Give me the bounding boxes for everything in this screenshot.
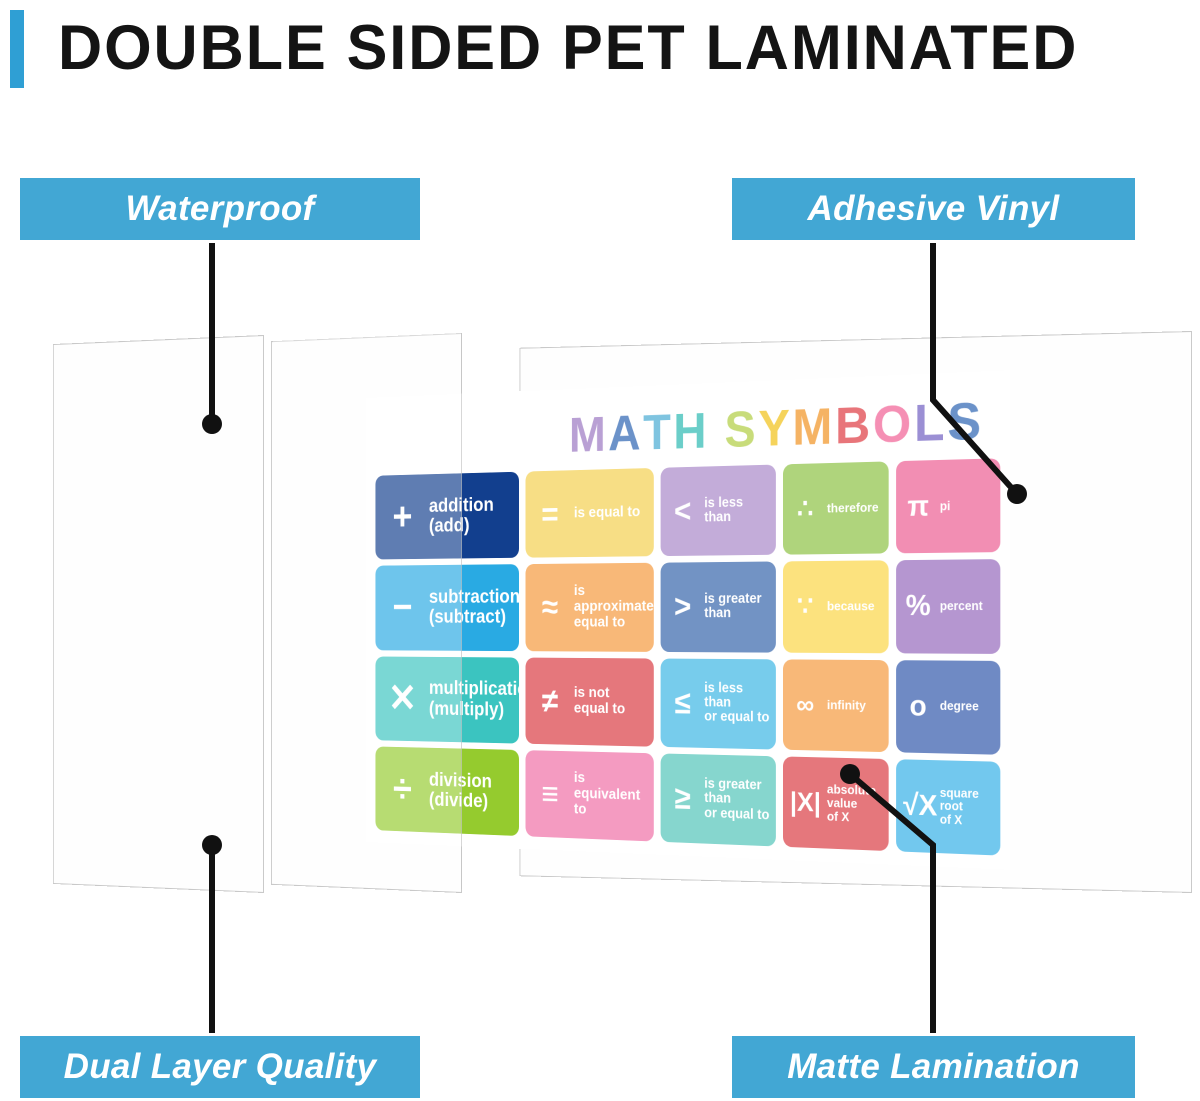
symbol-tile: ∴therefore xyxy=(783,461,888,555)
symbol-label: is approximatelyequal to xyxy=(574,583,654,631)
symbol-label: is equal to xyxy=(574,504,648,521)
symbol-glyph: ∴ xyxy=(790,495,821,523)
symbol-glyph: ≤ xyxy=(667,686,698,719)
symbol-label: multiplication(multiply) xyxy=(429,679,519,721)
symbol-glyph: o xyxy=(903,691,933,721)
poster-title-letter xyxy=(709,401,724,459)
header: DOUBLE SIDED PET LAMINATED xyxy=(0,0,1200,110)
symbol-tile: %percent xyxy=(896,559,1001,653)
poster-title-letter: O xyxy=(873,394,914,455)
symbol-tile: ≡is equivalent to xyxy=(525,750,653,842)
symbol-glyph: ≠ xyxy=(532,684,568,718)
symbol-glyph: ✕ xyxy=(382,679,424,719)
symbol-label: is less than xyxy=(704,495,770,526)
poster-title-letter: M xyxy=(792,397,835,457)
symbol-glyph: ∞ xyxy=(790,691,821,718)
callout-matte-lamination[interactable]: Matte Lamination xyxy=(732,1036,1135,1098)
symbol-tile: ✕multiplication(multiply) xyxy=(375,656,519,743)
poster-title-letter: A xyxy=(608,405,643,463)
math-symbols-poster-stage: MATH SYMBOLS +addition(add)=is equal to<… xyxy=(262,370,1010,870)
symbol-glyph: |X| xyxy=(790,788,821,816)
symbol-label: infinity xyxy=(827,698,883,712)
symbol-label: because xyxy=(827,600,883,614)
math-symbols-poster: MATH SYMBOLS +addition(add)=is equal to<… xyxy=(366,370,1010,870)
symbol-tile: ≥is greater thanor equal to xyxy=(660,753,775,846)
product-feature-infographic: DOUBLE SIDED PET LAMINATED MATH SYMBOLS … xyxy=(0,0,1200,1101)
symbol-label: pi xyxy=(940,499,995,513)
symbol-label: absolute valueof X xyxy=(827,783,883,825)
symbol-glyph: ≈ xyxy=(532,591,568,624)
symbol-glyph: > xyxy=(667,591,698,623)
poster-title-letter: H xyxy=(673,402,709,461)
math-symbols-grid: +addition(add)=is equal to<is less than∴… xyxy=(375,458,1000,855)
symbol-glyph: ≥ xyxy=(667,782,698,815)
symbol-tile: πpi xyxy=(896,458,1001,553)
symbol-glyph: π xyxy=(903,492,933,522)
symbol-label: is equivalent to xyxy=(574,771,648,821)
symbol-label: is greater thanor equal to xyxy=(704,777,770,823)
symbol-tile: odegree xyxy=(896,660,1001,755)
symbol-glyph: = xyxy=(532,497,568,531)
symbol-label: square rootof X xyxy=(940,787,995,828)
callout-waterproof[interactable]: Waterproof xyxy=(20,178,420,240)
symbol-tile: −subtraction(subtract) xyxy=(375,564,519,650)
symbol-label: division(divide) xyxy=(429,770,514,813)
poster-title: MATH SYMBOLS xyxy=(569,392,950,464)
poster-title-letter: Y xyxy=(758,399,792,459)
symbol-glyph: ÷ xyxy=(382,769,424,810)
poster-title-letter: B xyxy=(835,395,873,456)
symbol-tile: +addition(add) xyxy=(375,472,519,560)
symbol-glyph: ≡ xyxy=(532,777,568,811)
symbol-label: addition(add) xyxy=(429,495,514,537)
symbol-label: is less thanor equal to xyxy=(704,681,770,726)
symbol-tile: √Xsquare rootof X xyxy=(896,759,1001,856)
symbol-tile: ≤is less thanor equal to xyxy=(660,658,775,749)
callout-adhesive-vinyl[interactable]: Adhesive Vinyl xyxy=(732,178,1135,240)
header-accent-bar xyxy=(10,10,24,88)
callout-dual-layer-quality[interactable]: Dual Layer Quality xyxy=(20,1036,420,1098)
symbol-label: subtraction(subtract) xyxy=(429,587,519,628)
symbol-label: percent xyxy=(940,600,995,613)
symbol-glyph: + xyxy=(382,497,424,537)
symbol-tile: ÷division(divide) xyxy=(375,746,519,836)
symbol-tile: ≠is not equal to xyxy=(525,657,653,746)
symbol-label: is greater than xyxy=(704,592,770,621)
symbol-tile: ≈is approximatelyequal to xyxy=(525,563,653,651)
symbol-label: degree xyxy=(940,700,995,714)
poster-title-letter: S xyxy=(947,391,984,453)
symbol-tile: ∞infinity xyxy=(783,659,888,752)
back-pet-sheet xyxy=(53,335,264,893)
symbol-tile: >is greater than xyxy=(660,562,775,652)
symbol-label: therefore xyxy=(827,501,883,516)
symbol-glyph: ∵ xyxy=(790,593,821,620)
symbol-tile: |X|absolute valueof X xyxy=(783,756,888,851)
symbol-tile: =is equal to xyxy=(525,468,653,558)
page-title: DOUBLE SIDED PET LAMINATED xyxy=(58,7,1154,89)
symbol-tile: ∵because xyxy=(783,561,888,653)
symbol-glyph: < xyxy=(667,495,698,528)
symbol-glyph: % xyxy=(903,592,933,622)
poster-title-letter: T xyxy=(643,403,673,461)
symbol-tile: <is less than xyxy=(660,465,775,557)
symbol-glyph: − xyxy=(382,588,424,628)
poster-title-letter: M xyxy=(569,406,608,464)
symbol-label: is not equal to xyxy=(574,685,648,718)
symbol-glyph: √X xyxy=(903,791,933,822)
poster-title-letter: L xyxy=(914,392,947,453)
poster-title-letter: S xyxy=(724,400,758,459)
